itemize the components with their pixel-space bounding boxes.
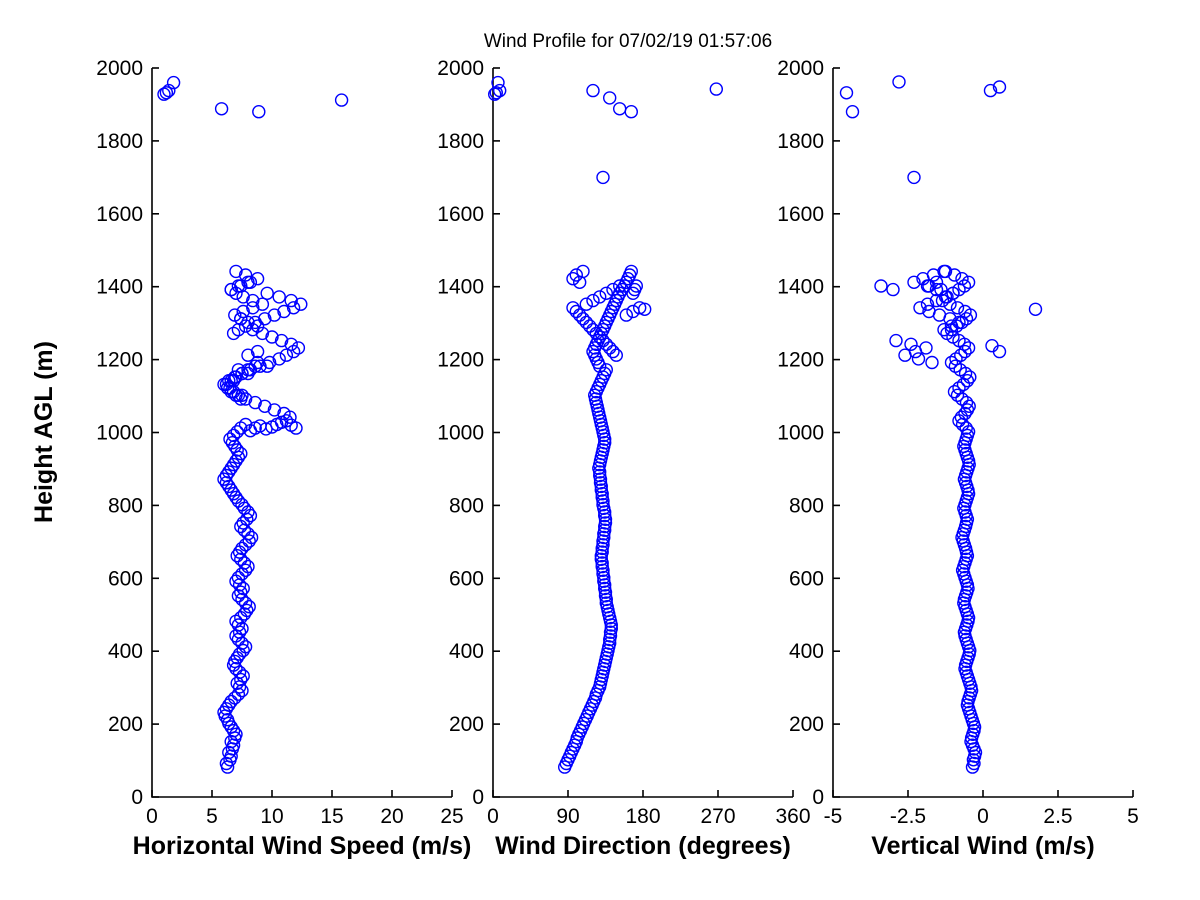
data-point	[242, 506, 254, 518]
panel-1: 0200400600800100012001400160018002000051…	[96, 57, 471, 860]
data-point	[261, 287, 273, 299]
data-point	[574, 309, 586, 321]
data-point	[594, 331, 606, 343]
wind-profile-figure: Wind Profile for 07/02/19 01:57:06Height…	[0, 0, 1200, 900]
data-point	[960, 422, 972, 434]
data-point	[994, 346, 1006, 358]
y-tick-label: 800	[789, 494, 824, 517]
data-point	[253, 106, 265, 118]
data-point	[841, 87, 853, 99]
x-tick-label: 360	[775, 805, 810, 828]
data-point	[230, 630, 242, 642]
y-tick-label: 1400	[437, 276, 484, 299]
y-tick-label: 400	[108, 640, 143, 663]
y-tick-label: 1200	[777, 349, 824, 372]
y-tick-label: 400	[789, 640, 824, 663]
data-point	[567, 302, 579, 314]
series-markers	[158, 77, 348, 774]
y-tick-label: 0	[812, 786, 824, 809]
x-tick-label: -5	[824, 805, 843, 828]
data-point	[273, 291, 285, 303]
series-markers	[489, 77, 723, 774]
y-tick-label: 1600	[437, 203, 484, 226]
y-tick-label: 1000	[777, 422, 824, 445]
y-tick-label: 2000	[437, 57, 484, 80]
data-point	[280, 349, 292, 361]
data-point	[630, 280, 642, 292]
data-point	[890, 335, 902, 347]
data-point	[580, 298, 592, 310]
y-tick-label: 0	[472, 786, 484, 809]
data-point	[584, 320, 596, 332]
axis-lines	[152, 68, 452, 797]
y-tick-label: 2000	[96, 57, 143, 80]
axis-lines	[493, 68, 793, 797]
x-tick-label: 5	[1127, 805, 1139, 828]
data-point	[625, 265, 637, 277]
data-point	[955, 411, 967, 423]
data-point	[228, 429, 240, 441]
data-point	[986, 340, 998, 352]
data-point	[604, 92, 616, 104]
x-tick-label: 15	[320, 805, 343, 828]
data-point	[913, 353, 925, 365]
data-point	[237, 670, 249, 682]
data-point	[234, 666, 246, 678]
series-markers	[841, 76, 1042, 773]
y-tick-label: 1800	[777, 130, 824, 153]
data-point	[240, 641, 252, 653]
data-point	[236, 499, 248, 511]
x-tick-label: 5	[206, 805, 218, 828]
data-point	[610, 349, 622, 361]
data-point	[240, 539, 252, 551]
y-tick-label: 200	[789, 713, 824, 736]
data-point	[627, 306, 639, 318]
x-tick-label: 270	[700, 805, 735, 828]
axis-lines	[833, 68, 1133, 797]
y-tick-label: 800	[108, 494, 143, 517]
y-tick-label: 800	[449, 494, 484, 517]
y-tick-label: 200	[108, 713, 143, 736]
y-tick-label: 1800	[96, 130, 143, 153]
x-tick-label: 180	[625, 805, 660, 828]
x-axis-label: Vertical Wind (m/s)	[871, 832, 1094, 860]
figure-title: Wind Profile for 07/02/19 01:57:06	[484, 31, 772, 52]
data-point	[847, 106, 859, 118]
data-point	[620, 309, 632, 321]
data-point	[908, 171, 920, 183]
data-point	[242, 561, 254, 573]
data-point	[232, 572, 244, 584]
x-tick-label: -2.5	[890, 805, 926, 828]
data-point	[577, 265, 589, 277]
y-tick-label: 600	[789, 567, 824, 590]
data-point	[587, 85, 599, 97]
data-point	[963, 400, 975, 412]
data-point	[237, 517, 249, 529]
x-axis-label: Horizontal Wind Speed (m/s)	[133, 832, 472, 860]
data-point	[938, 324, 950, 336]
data-point	[587, 295, 599, 307]
data-point	[604, 342, 616, 354]
data-point	[625, 106, 637, 118]
y-tick-label: 1400	[96, 276, 143, 299]
y-tick-label: 1600	[777, 203, 824, 226]
panel-2: 0200400600800100012001400160018002000090…	[437, 57, 810, 860]
y-tick-label: 1600	[96, 203, 143, 226]
data-point	[570, 269, 582, 281]
x-tick-label: 20	[380, 805, 403, 828]
data-point	[893, 76, 905, 88]
panel-3: 0200400600800100012001400160018002000-5-…	[777, 57, 1139, 860]
data-point	[238, 557, 250, 569]
x-tick-label: 0	[146, 805, 158, 828]
y-tick-label: 1200	[96, 349, 143, 372]
x-tick-label: 90	[556, 805, 579, 828]
data-point	[1030, 303, 1042, 315]
data-point	[926, 357, 938, 369]
y-tick-label: 600	[449, 567, 484, 590]
data-point	[246, 532, 258, 544]
y-tick-label: 2000	[777, 57, 824, 80]
data-point	[574, 276, 586, 288]
y-tick-label: 1800	[437, 130, 484, 153]
y-tick-label: 1400	[777, 276, 824, 299]
y-tick-label: 1200	[437, 349, 484, 372]
data-point	[614, 103, 626, 115]
data-point	[231, 426, 243, 438]
x-tick-label: 10	[260, 805, 283, 828]
x-axis-label: Wind Direction (degrees)	[495, 832, 791, 860]
y-tick-label: 1000	[96, 422, 143, 445]
data-point	[580, 316, 592, 328]
y-tick-label: 400	[449, 640, 484, 663]
data-point	[710, 83, 722, 95]
data-point	[336, 94, 348, 106]
y-tick-label: 0	[131, 786, 143, 809]
data-point	[887, 284, 899, 296]
x-tick-label: 2.5	[1043, 805, 1072, 828]
data-point	[607, 346, 619, 358]
data-point	[952, 302, 964, 314]
data-point	[597, 171, 609, 183]
y-tick-label: 1000	[437, 422, 484, 445]
figure-canvas: Wind Profile for 07/02/19 01:57:06Height…	[0, 0, 1200, 900]
data-point	[875, 280, 887, 292]
data-point	[577, 313, 589, 325]
data-point	[242, 528, 254, 540]
y-axis-label: Height AGL (m)	[30, 341, 58, 523]
data-point	[216, 103, 228, 115]
x-tick-label: 25	[440, 805, 463, 828]
data-point	[236, 568, 248, 580]
y-tick-label: 200	[449, 713, 484, 736]
data-point	[240, 597, 252, 609]
data-point	[920, 342, 932, 354]
data-point	[229, 692, 241, 704]
data-point	[236, 637, 248, 649]
data-point	[236, 623, 248, 635]
x-tick-label: 0	[487, 805, 499, 828]
y-tick-label: 600	[108, 567, 143, 590]
x-tick-label: 0	[977, 805, 989, 828]
